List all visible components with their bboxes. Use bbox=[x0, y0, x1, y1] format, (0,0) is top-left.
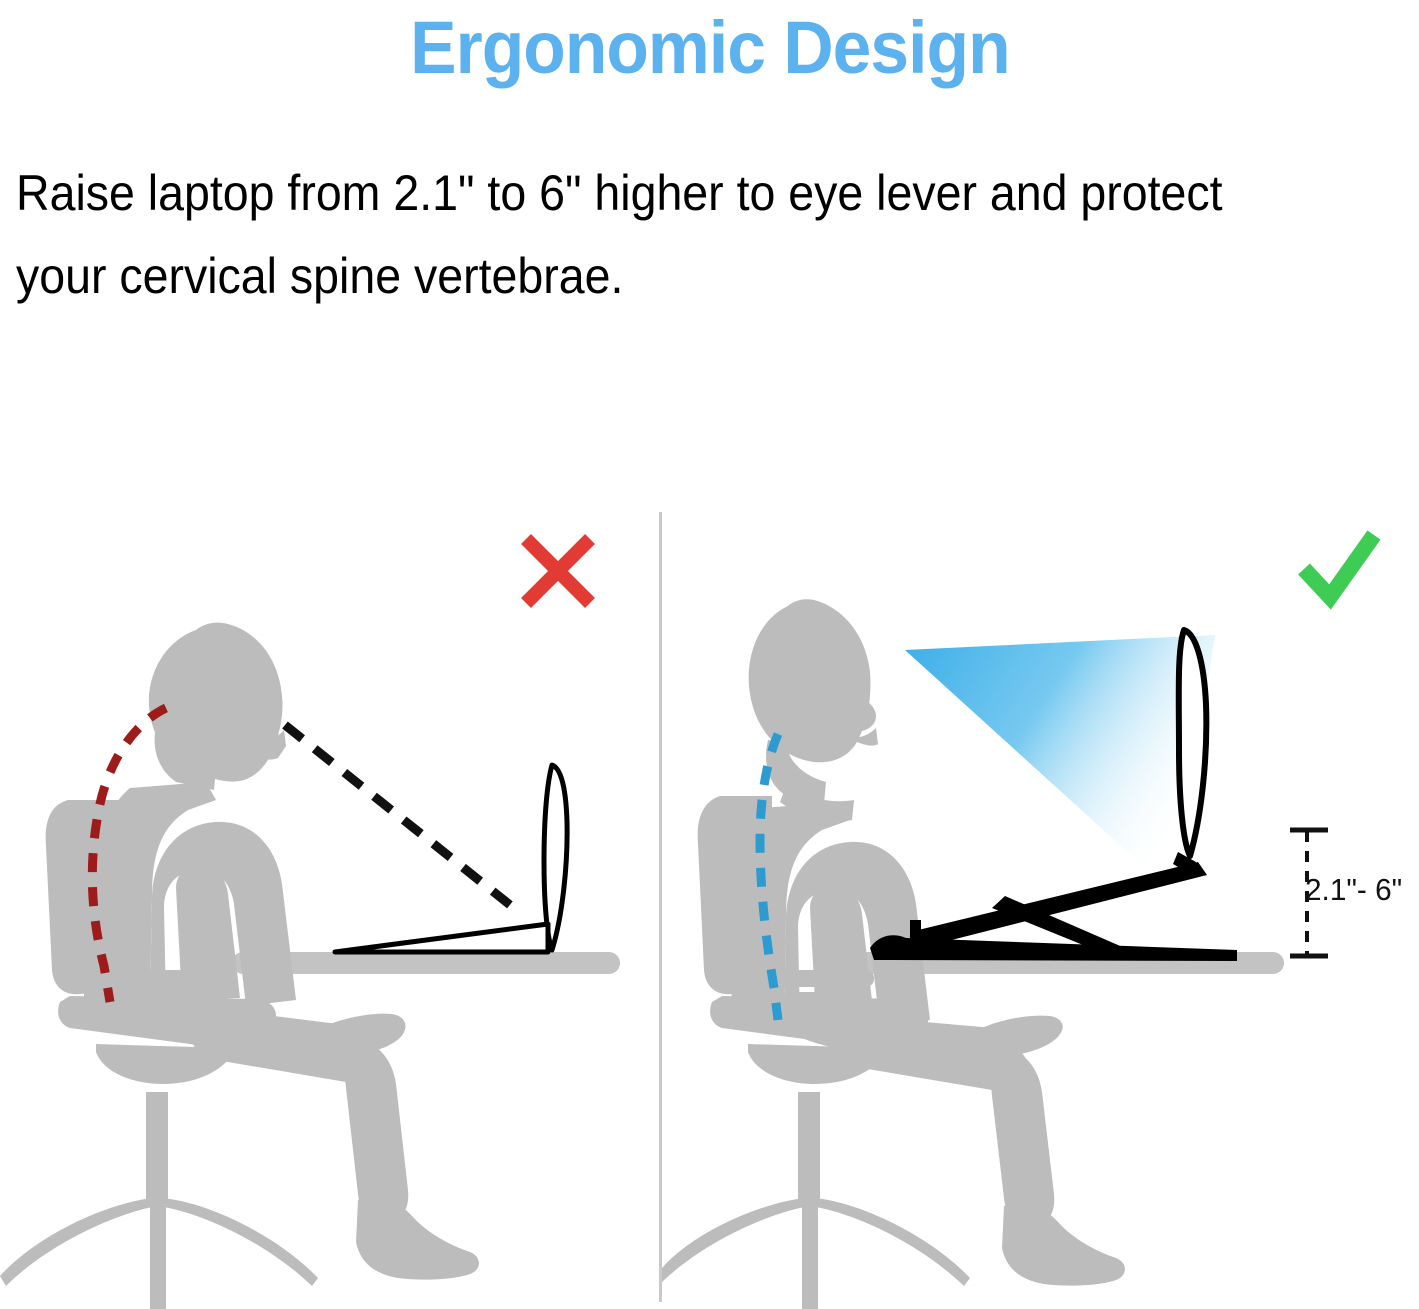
check-icon bbox=[1292, 525, 1384, 617]
incorrect-posture-panel bbox=[0, 500, 659, 1309]
measurement-label: 2.1"- 6" bbox=[1305, 874, 1402, 905]
sight-line bbox=[285, 725, 510, 905]
vision-cone bbox=[905, 635, 1215, 895]
laptop-flat bbox=[335, 765, 567, 952]
incorrect-posture-illustration bbox=[0, 500, 659, 1309]
infographic-page: Ergonomic Design Raise laptop from 2.1" … bbox=[0, 0, 1419, 1309]
height-measurement-callout: 2.1"- 6" bbox=[1288, 826, 1419, 960]
comparison-panels bbox=[0, 0, 1419, 1309]
cross-icon bbox=[512, 525, 604, 617]
